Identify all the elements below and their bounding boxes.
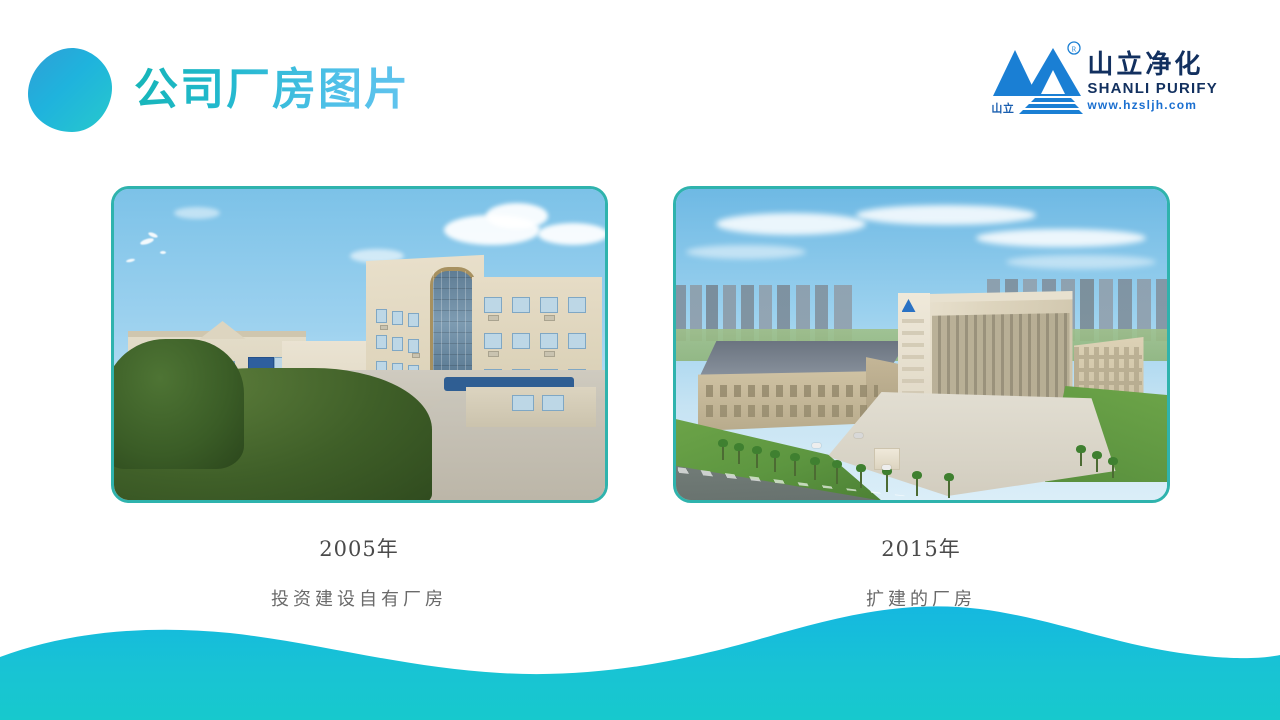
factory-photo-frame-2015[interactable]	[673, 186, 1170, 503]
card-description-label: 投资建设自有厂房	[111, 585, 608, 611]
card-description-label: 扩建的厂房	[673, 585, 1170, 611]
logo-text-block: 山立净化 SHANLI PURIFY www.hzsljh.com	[1087, 40, 1218, 111]
factory-photo-2005	[114, 189, 605, 500]
decorative-blob-icon	[26, 46, 114, 134]
slide-root: 公司厂房图片 R 山立 山立净化 SHANLI PURIFY ww	[0, 0, 1280, 720]
factory-photo-cards: 2005年 投资建设自有厂房	[0, 186, 1280, 611]
factory-photo-2015	[676, 189, 1167, 500]
card-year-label: 2005年	[111, 533, 608, 563]
logo-company-name-cn: 山立净化	[1087, 52, 1218, 78]
logo-mark-caption: 山立	[991, 100, 1014, 116]
svg-text:R: R	[1072, 46, 1077, 54]
logo-website-url: www.hzsljh.com	[1087, 99, 1218, 111]
logo-company-name-en: SHANLI PURIFY	[1087, 81, 1218, 96]
factory-card-2015: 2015年 扩建的厂房	[673, 186, 1170, 611]
card-year-label: 2015年	[673, 533, 1170, 563]
company-logo: R 山立 山立净化 SHANLI PURIFY www.hzsljh.com	[991, 40, 1218, 118]
factory-card-2005: 2005年 投资建设自有厂房	[111, 186, 608, 611]
shanli-mountain-mark-icon: R 山立	[991, 40, 1083, 118]
page-title: 公司厂房图片	[134, 62, 410, 117]
factory-photo-frame-2005[interactable]	[111, 186, 608, 503]
